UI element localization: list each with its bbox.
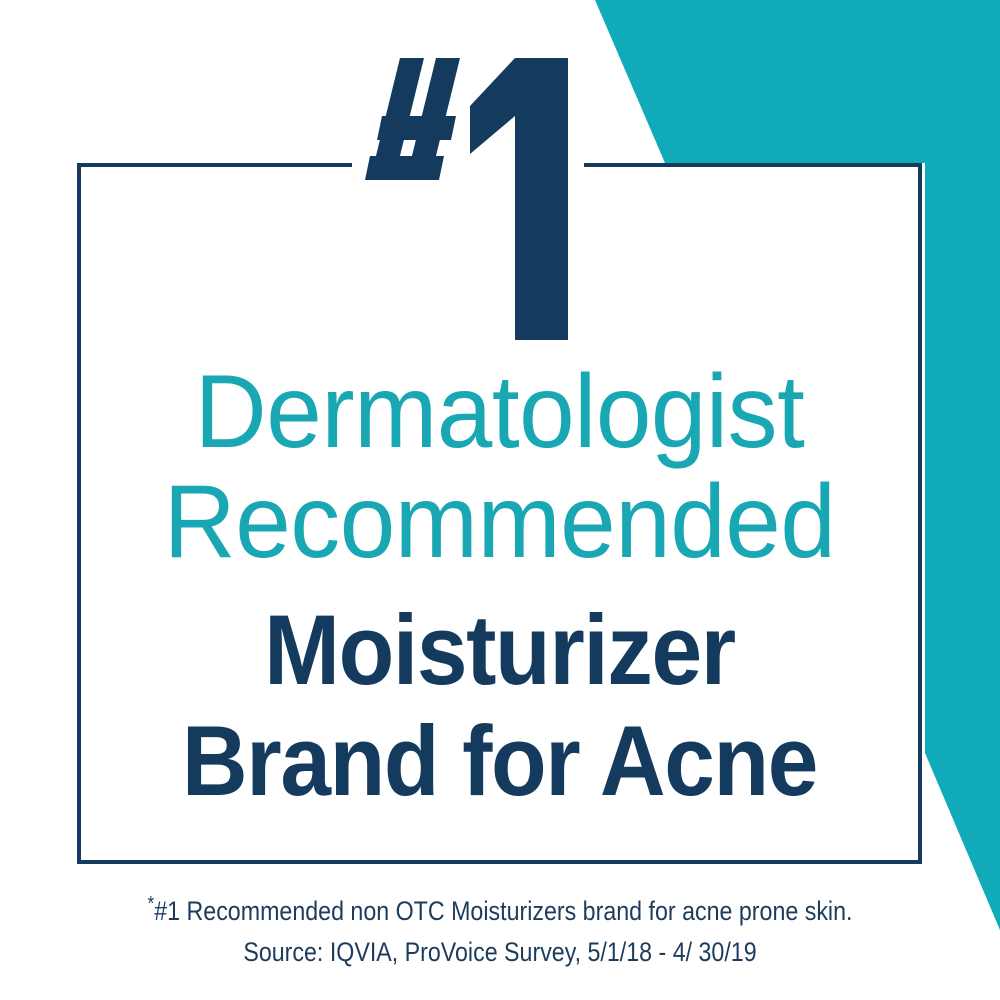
brand-claim-graphic: #1 Dermatologist Recommended Moisturizer…	[0, 0, 1000, 1000]
headline-block: Dermatologist Recommended Moisturizer Br…	[77, 360, 922, 816]
headline-line-dermatologist: Dermatologist	[94, 360, 905, 464]
footnote-line-source: Source: IQVIA, ProVoice Survey, 5/1/18 -…	[70, 932, 930, 973]
footnote-block: *#1 Recommended non OTC Moisturizers bra…	[0, 884, 1000, 973]
footnote-asterisk: *	[148, 893, 155, 915]
headline-line-recommended: Recommended	[94, 470, 905, 574]
headline-line-moisturizer: Moisturizer	[111, 600, 888, 699]
rank-number-one: #1	[352, 44, 612, 344]
headline-line-brand-for-acne: Brand for Acne	[111, 711, 888, 810]
footnote-line-claim: *#1 Recommended non OTC Moisturizers bra…	[70, 884, 930, 932]
footnote-claim-text: #1 Recommended non OTC Moisturizers bran…	[154, 896, 852, 926]
